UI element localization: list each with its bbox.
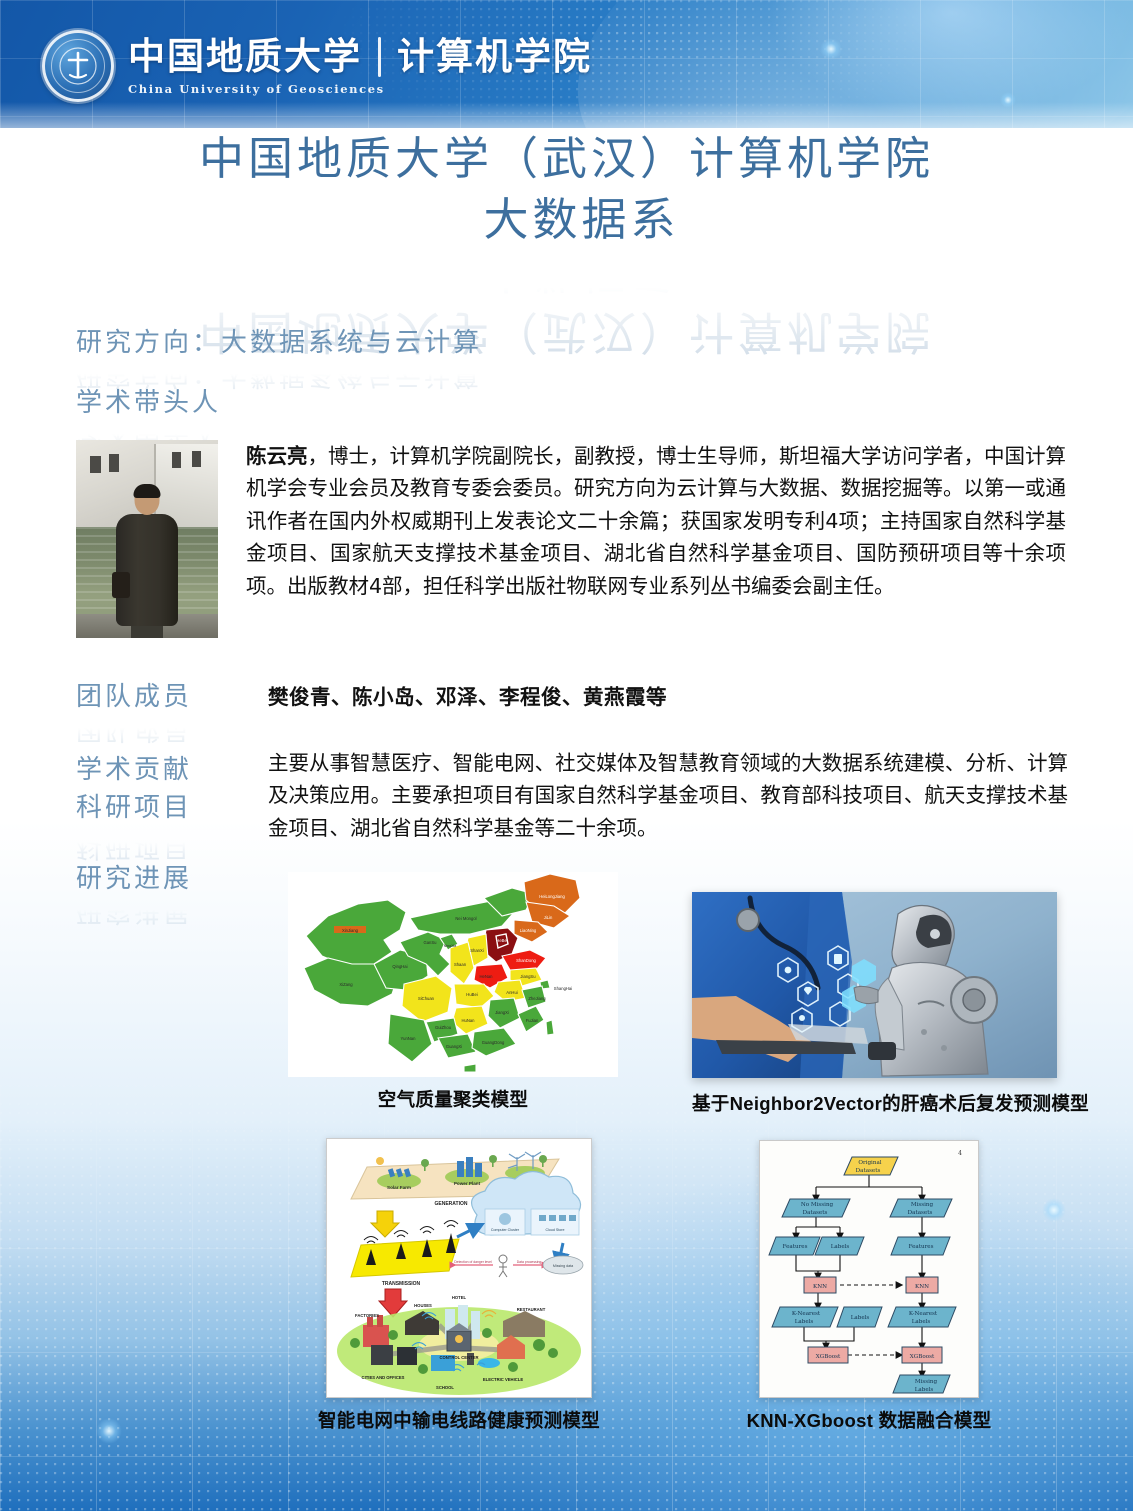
leader-name: 陈云亮	[246, 444, 308, 468]
svg-text:Cloud Store: Cloud Store	[546, 1228, 565, 1232]
svg-text:Labels: Labels	[851, 1315, 870, 1321]
research-direction-heading: 研究方向：大数据系统与云计算 研究方向：大数据系统与云计算	[76, 322, 482, 359]
poster-title-block: 中国地质大学（武汉）计算机学院 大数据系 中国地质大学（武汉）计算机学院 大数据…	[0, 128, 1133, 308]
school-name-cn: 计算机学院	[397, 38, 592, 75]
svg-text:GanSu: GanSu	[423, 940, 437, 945]
svg-text:Missing data: Missing data	[553, 1264, 573, 1268]
svg-text:XGBoost: XGBoost	[816, 1354, 841, 1360]
svg-text:FuJian: FuJian	[526, 1018, 539, 1023]
svg-text:AnHui: AnHui	[506, 990, 517, 995]
svg-text:KNN: KNN	[915, 1284, 929, 1290]
brand-lockup: 中国地质大学 计算机学院 China University of Geoscie…	[42, 30, 592, 102]
svg-text:Labels: Labels	[831, 1244, 850, 1250]
svg-text:JiangXi: JiangXi	[495, 1010, 509, 1015]
academic-leader-text: 学术带头人	[76, 388, 221, 418]
team-members-mirror: 团队成员	[76, 713, 192, 750]
svg-text:Features: Features	[783, 1244, 808, 1250]
svg-text:RESTAURANT: RESTAURANT	[517, 1307, 546, 1312]
svg-text:XGBoost: XGBoost	[910, 1354, 935, 1360]
portrait-hair	[134, 484, 161, 498]
svg-text:CONTROL CENTER: CONTROL CENTER	[439, 1355, 478, 1360]
figure-caption-knn-xgboost: KNN-XGboost 数据融合模型	[724, 1407, 1014, 1433]
academic-contribution-value: 主要从事智慧医疗、智能电网、社交媒体及智慧教育领域的大数据系统建模、分析、计算及…	[268, 748, 1068, 845]
knn-xgboost-flowchart: 4	[759, 1140, 979, 1398]
research-progress-heading: 研究进展 研究进展	[76, 858, 192, 895]
leader-biography: 陈云亮，博士，计算机学院副院长，副教授，博士生导师，斯坦福大学访问学者，中国计算…	[246, 440, 1066, 638]
svg-text:KNN: KNN	[813, 1284, 827, 1290]
header-bottom-fade	[0, 102, 1133, 128]
svg-text:Solar Farm: Solar Farm	[387, 1185, 411, 1190]
svg-text:LiaoNing: LiaoNing	[520, 928, 537, 933]
page-title-line2: 大数据系	[30, 189, 1133, 250]
research-direction-text: 研究方向：大数据系统与云计算	[76, 328, 482, 358]
portrait-window	[192, 451, 201, 467]
svg-text:HeiLongJiang: HeiLongJiang	[539, 894, 565, 899]
academic-contribution-label-line1: 学术贡献	[76, 752, 192, 790]
svg-text:Datasets: Datasets	[856, 1168, 881, 1174]
doctor-and-robot-photo	[692, 892, 1057, 1078]
research-progress-mirror: 研究进展	[76, 895, 192, 932]
team-members-value: 樊俊青、陈小岛、邓泽、李程俊、黄燕霞等	[268, 680, 1068, 710]
brand-chinese-names: 中国地质大学 计算机学院	[128, 37, 592, 77]
brand-text: 中国地质大学 计算机学院 China University of Geoscie…	[128, 37, 592, 96]
svg-text:HOTEL: HOTEL	[452, 1295, 467, 1300]
svg-text:YunNan: YunNan	[401, 1036, 417, 1041]
svg-text:XiZang: XiZang	[339, 982, 353, 987]
svg-text:Missing: Missing	[915, 1379, 938, 1385]
svg-text:Nei Mongol: Nei Mongol	[455, 916, 476, 921]
footer-glow-dot	[1042, 1198, 1066, 1222]
smart-grid-diagram: Solar Farm Power Plant Wind Farm GENERAT…	[326, 1138, 592, 1398]
portrait-window	[109, 454, 119, 472]
svg-text:HeNan: HeNan	[479, 974, 493, 979]
figure-air-quality-map: XinJiang XiZang QingHai GanSu Nei Mongol…	[288, 872, 618, 1112]
academic-leader-heading: 学术带头人 学术带头人	[76, 382, 221, 419]
svg-text:No Missing: No Missing	[801, 1202, 834, 1208]
leader-bio-text: ，博士，计算机学院副院长，副教授，博士生导师，斯坦福大学访问学者，中国计算机学会…	[246, 444, 1066, 598]
team-members-label: 团队成员	[76, 682, 192, 712]
research-progress-label: 研究进展	[76, 864, 192, 894]
page-title: 中国地质大学（武汉）计算机学院 大数据系	[0, 128, 1133, 250]
svg-text:FACTORIES: FACTORIES	[355, 1313, 379, 1318]
svg-text:Labels: Labels	[795, 1319, 814, 1325]
svg-text:HuBei: HuBei	[466, 992, 477, 997]
svg-text:Datasets: Datasets	[803, 1210, 828, 1216]
figure-medical-robot: 基于Neighbor2Vector的肝癌术后复发预测模型	[692, 892, 1064, 1116]
svg-text:Shaan: Shaan	[454, 962, 467, 967]
svg-text:GENERATION: GENERATION	[435, 1201, 468, 1207]
svg-text:QingHai: QingHai	[392, 964, 407, 969]
svg-text:GuangXi: GuangXi	[446, 1044, 462, 1049]
svg-text:Data processing: Data processing	[517, 1260, 542, 1264]
figure-caption-smart-grid: 智能电网中输电线路健康预测模型	[294, 1407, 624, 1433]
svg-text:GuangDong: GuangDong	[482, 1040, 505, 1045]
figure-knn-xgboost: 4	[724, 1140, 1014, 1433]
svg-text:Labels: Labels	[912, 1319, 931, 1325]
team-members-heading: 团队成员 团队成员	[76, 676, 192, 713]
portrait-window	[90, 456, 101, 473]
svg-text:Datasets: Datasets	[908, 1210, 933, 1216]
svg-text:K-Nearest: K-Nearest	[792, 1311, 821, 1317]
figure-caption-liver-cancer: 基于Neighbor2Vector的肝癌术后复发预测模型	[692, 1090, 1064, 1116]
portrait-person-figure	[116, 486, 178, 626]
svg-text:ShanXi: ShanXi	[470, 948, 484, 953]
svg-text:HeBei: HeBei	[496, 938, 507, 943]
academic-contribution-heading: 学术贡献 科研项目 科研项目	[76, 752, 192, 827]
svg-text:Power Plant: Power Plant	[454, 1181, 481, 1186]
svg-text:JiangSu: JiangSu	[520, 974, 536, 979]
svg-text:ShanDong: ShanDong	[516, 958, 536, 963]
svg-text:TRANSMISSION: TRANSMISSION	[382, 1281, 421, 1287]
svg-text:XinJiang: XinJiang	[342, 928, 359, 933]
page-title-line1: 中国地质大学（武汉）计算机学院	[0, 128, 1133, 189]
china-air-quality-cluster-map: XinJiang XiZang QingHai GanSu Nei Mongol…	[288, 872, 618, 1077]
svg-text:GuiZhou: GuiZhou	[435, 1025, 452, 1030]
svg-text:Labels: Labels	[915, 1387, 934, 1393]
svg-text:SiChuan: SiChuan	[418, 996, 435, 1001]
svg-text:HuNan: HuNan	[461, 1018, 475, 1023]
svg-text:Computer Cluster: Computer Cluster	[491, 1228, 520, 1232]
header-banner: 中国地质大学 计算机学院 China University of Geoscie…	[0, 0, 1133, 128]
portrait-window	[172, 452, 181, 468]
poster-page: 中国地质大学 计算机学院 China University of Geoscie…	[0, 0, 1133, 1511]
university-crest-icon	[42, 30, 114, 102]
svg-text:Original: Original	[858, 1160, 881, 1166]
academic-contribution-label-line2: 科研项目	[76, 790, 192, 828]
svg-text:NingXia: NingXia	[444, 944, 457, 948]
svg-text:Features: Features	[909, 1244, 934, 1250]
svg-text:JiLin: JiLin	[544, 915, 553, 920]
svg-text:Missing: Missing	[911, 1202, 934, 1208]
svg-text:CITIES AND OFFICES: CITIES AND OFFICES	[362, 1375, 405, 1380]
svg-text:ZheJiang: ZheJiang	[528, 996, 546, 1001]
brand-divider-bar	[378, 37, 381, 77]
portrait-shoulder-bag	[112, 572, 130, 598]
svg-text:SCHOOL: SCHOOL	[436, 1385, 454, 1390]
university-name-cn: 中国地质大学	[128, 38, 362, 75]
svg-text:Detection of danger level: Detection of danger level	[454, 1260, 492, 1264]
svg-text:ELECTRIC VEHICLE: ELECTRIC VEHICLE	[483, 1377, 523, 1382]
portrait-winter-coat	[116, 514, 178, 626]
svg-text:ShangHai: ShangHai	[554, 986, 572, 991]
figure-smart-grid: Solar Farm Power Plant Wind Farm GENERAT…	[294, 1138, 624, 1433]
footer-glow-dot	[96, 1418, 122, 1444]
academic-leader-row: 陈云亮，博士，计算机学院副院长，副教授，博士生导师，斯坦福大学访问学者，中国计算…	[76, 440, 1066, 638]
figure-caption-air-quality: 空气质量聚类模型	[288, 1086, 618, 1112]
university-name-en: China University of Geosciences	[128, 84, 592, 96]
svg-text:HOUSES: HOUSES	[414, 1303, 432, 1308]
flowchart-page-number: 4	[958, 1150, 962, 1157]
svg-text:K-Nearest: K-Nearest	[909, 1311, 938, 1317]
leader-portrait-photo	[76, 440, 218, 638]
